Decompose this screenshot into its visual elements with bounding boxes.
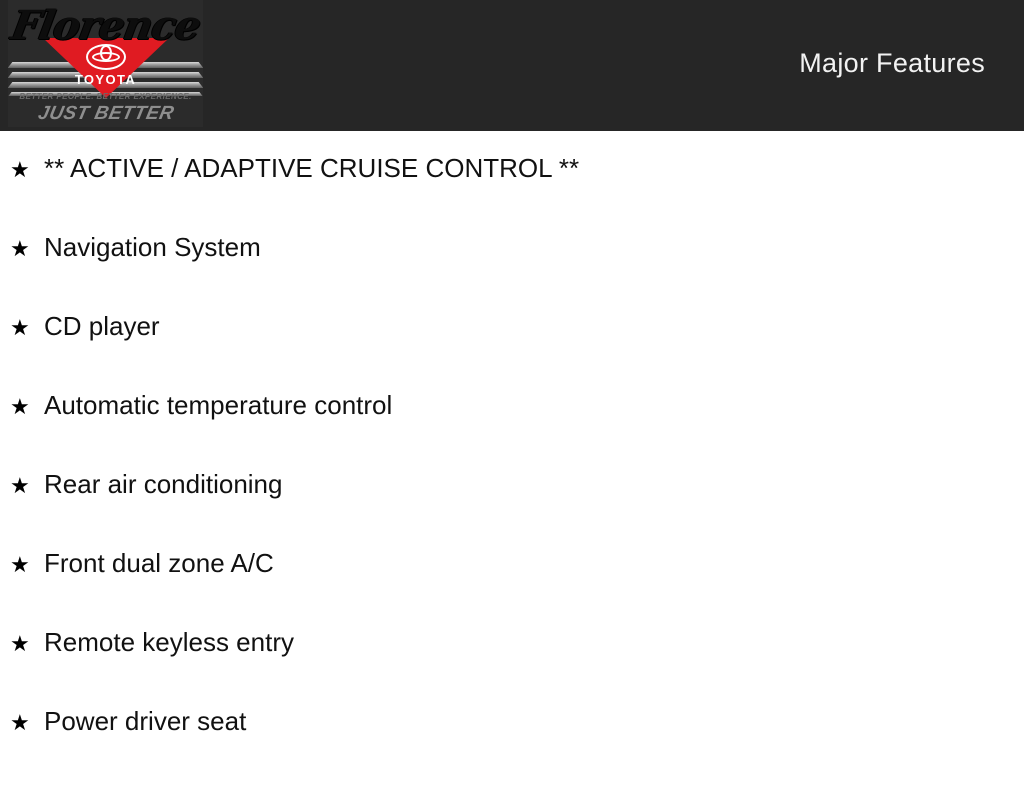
feature-label: Power driver seat	[44, 708, 246, 734]
star-bullet-icon: ★	[10, 238, 44, 260]
feature-label: Rear air conditioning	[44, 471, 282, 497]
feature-label: CD player	[44, 313, 160, 339]
star-bullet-icon: ★	[10, 396, 44, 418]
page-header: TOYOTA Florence BETTER PEOPLE. BETTER EX…	[0, 0, 1024, 131]
list-item: ★ Navigation System	[0, 234, 1024, 313]
star-bullet-icon: ★	[10, 475, 44, 497]
list-item: ★ Remote keyless entry	[0, 629, 1024, 708]
feature-label: Remote keyless entry	[44, 629, 294, 655]
logo-tagline-secondary: BETTER PEOPLE. BETTER EXPERIENCE.	[19, 92, 191, 101]
star-bullet-icon: ★	[10, 554, 44, 576]
page-title: Major Features	[799, 48, 985, 79]
list-item: ★ CD player	[0, 313, 1024, 392]
toyota-wordmark: TOYOTA	[75, 72, 136, 87]
star-bullet-icon: ★	[10, 159, 44, 181]
dealer-logo[interactable]: TOYOTA Florence BETTER PEOPLE. BETTER EX…	[8, 0, 203, 127]
feature-label: Front dual zone A/C	[44, 550, 274, 576]
dealer-name-script: Florence	[8, 2, 203, 49]
list-item: ★ Power driver seat	[0, 708, 1024, 787]
star-bullet-icon: ★	[10, 712, 44, 734]
list-item: ★ Rear air conditioning	[0, 471, 1024, 550]
list-item: ★ Automatic temperature control	[0, 392, 1024, 471]
star-bullet-icon: ★	[10, 317, 44, 339]
feature-label: ** ACTIVE / ADAPTIVE CRUISE CONTROL **	[44, 155, 579, 181]
feature-label: Navigation System	[44, 234, 261, 260]
major-features-list: ★ ** ACTIVE / ADAPTIVE CRUISE CONTROL **…	[0, 131, 1024, 787]
star-bullet-icon: ★	[10, 633, 44, 655]
feature-label: Automatic temperature control	[44, 392, 392, 418]
logo-tagline-primary: JUST BETTER	[35, 103, 175, 125]
list-item: ★ ** ACTIVE / ADAPTIVE CRUISE CONTROL **	[0, 155, 1024, 234]
list-item: ★ Front dual zone A/C	[0, 550, 1024, 629]
